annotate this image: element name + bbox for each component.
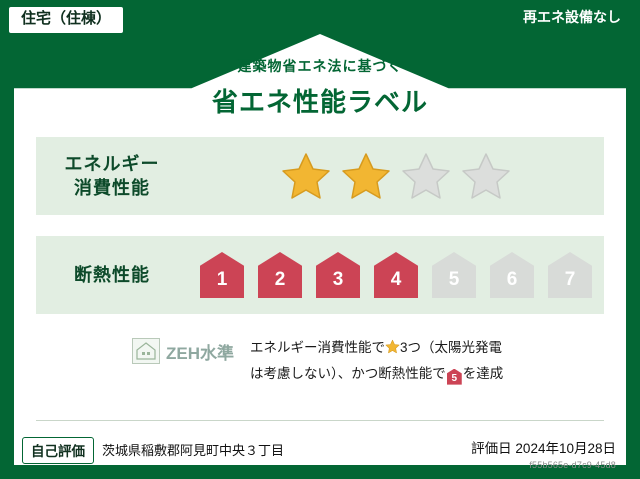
star-filled-1 (280, 151, 332, 201)
badge-renewable-energy: 再エネ設備なし (513, 6, 631, 31)
label-footer: 自己評価 茨城県稲敷郡阿見町中央３丁目 評価日 2024年10月28日 f55b… (22, 437, 618, 471)
label-title-block: 建築物省エネ法に基づく 省エネ性能ラベル (0, 56, 640, 119)
mini-insulation-level-badge: 5 (447, 369, 462, 385)
property-address: 茨城県稲敷郡阿見町中央３丁目 (102, 440, 284, 459)
mini-star-icon (385, 338, 400, 362)
row-energy-label-line1: エネルギー (36, 152, 188, 176)
insulation-level-scale: 1 2 3 4 5 6 7 (188, 236, 604, 314)
badge-building-type: 住宅（住棟） (8, 6, 124, 34)
row-energy-label: エネルギー 消費性能 (36, 152, 188, 201)
self-evaluation-badge: 自己評価 (22, 437, 94, 464)
title-main: 省エネ性能ラベル (0, 82, 640, 119)
star-filled-2 (340, 151, 392, 201)
zeh-description-line2: は考慮しない）、かつ断熱性能で5を達成 (250, 362, 503, 386)
row-insulation-label: 断熱性能 (36, 263, 188, 287)
insulation-level-5: 5 (432, 252, 476, 298)
zeh-desc-line2-a: は考慮しない）、かつ断熱性能で (250, 366, 446, 381)
insulation-level-6: 6 (490, 252, 534, 298)
zeh-section: ZEH水準 エネルギー消費性能で3つ（太陽光発電 は考慮しない）、かつ断熱性能で… (36, 330, 604, 392)
zeh-description-line1: エネルギー消費性能で3つ（太陽光発電 (250, 336, 503, 362)
zeh-desc-line1-b: 3つ（太陽光発電 (400, 340, 502, 355)
footer-divider (36, 420, 604, 421)
star-empty-4 (460, 151, 512, 201)
insulation-level-7: 7 (548, 252, 592, 298)
zeh-house-icon (132, 338, 160, 364)
energy-performance-label: 住宅（住棟） 再エネ設備なし 建築物省エネ法に基づく 省エネ性能ラベル エネルギ… (0, 0, 640, 479)
star-rating (188, 137, 604, 215)
row-insulation-performance: 断熱性能 1 2 3 4 5 6 (36, 236, 604, 314)
row-energy-label-line2: 消費性能 (36, 176, 188, 200)
document-id: f55b565e-d7c9-45d8 (471, 460, 616, 470)
row-energy-performance: エネルギー 消費性能 (36, 137, 604, 215)
evaluation-date: 評価日 2024年10月28日 (471, 441, 616, 456)
insulation-level-2: 2 (258, 252, 302, 298)
insulation-level-1: 1 (200, 252, 244, 298)
title-subtitle: 建築物省エネ法に基づく (0, 56, 640, 76)
insulation-level-4: 4 (374, 252, 418, 298)
zeh-desc-line2-b: を達成 (463, 366, 504, 381)
star-empty-3 (400, 151, 452, 201)
zeh-label: ZEH水準 (166, 339, 234, 364)
zeh-description: エネルギー消費性能で3つ（太陽光発電 は考慮しない）、かつ断熱性能で5を達成 (250, 336, 503, 385)
footer-right-block: 評価日 2024年10月28日 f55b565e-d7c9-45d8 (471, 437, 618, 470)
zeh-desc-line1-a: エネルギー消費性能で (250, 340, 385, 355)
insulation-level-3: 3 (316, 252, 360, 298)
zeh-badge: ZEH水準 (132, 338, 234, 364)
